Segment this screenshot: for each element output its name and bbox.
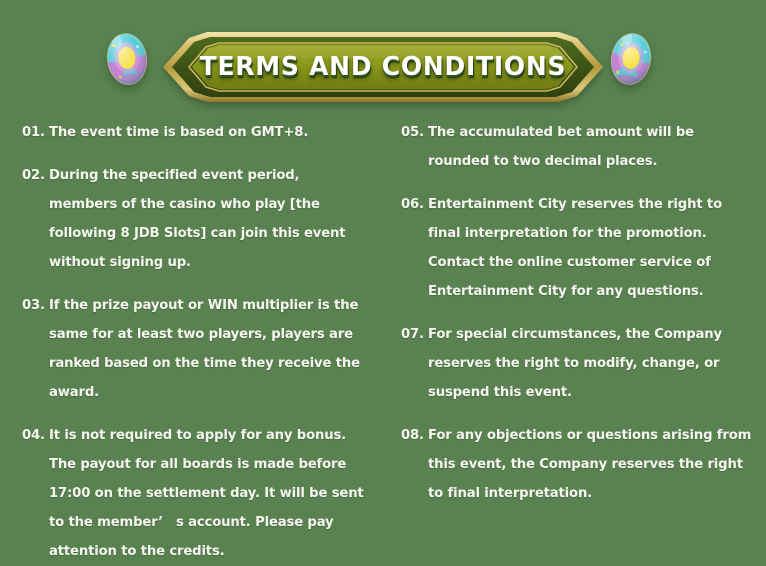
term-number: 04. [22,421,49,450]
term-number: 06. [401,190,428,219]
term-item: 01. The event time is based on GMT+8. [22,118,367,147]
term-text: The accumulated bet amount will be round… [428,118,756,176]
promo-terms-page: TERMS AND CONDITIONS [0,0,766,477]
term-number: 05. [401,118,428,147]
term-number: 08. [401,421,428,450]
term-item: 04. It is not required to apply for any … [22,421,367,566]
term-number: 01. [22,118,49,147]
term-text: For any objections or questions arising … [428,421,756,508]
term-item: 08. For any objections or questions aris… [401,421,756,508]
terms-and-conditions-body: 01. The event time is based on GMT+8. 02… [0,118,766,477]
term-item: 06. Entertainment City reserves the righ… [401,190,756,306]
terms-column-left: 01. The event time is based on GMT+8. 02… [0,118,383,477]
banner-plate-shape [163,28,603,106]
term-text: If the prize payout or WIN multiplier is… [49,291,367,407]
term-text: Entertainment City reserves the right to… [428,190,756,306]
terms-column-right: 05. The accumulated bet amount will be r… [383,118,766,477]
term-item: 02. During the specified event period, m… [22,161,367,277]
term-number: 07. [401,320,428,349]
term-number: 03. [22,291,49,320]
page-header: TERMS AND CONDITIONS [0,0,766,118]
term-item: 03. If the prize payout or WIN multiplie… [22,291,367,407]
term-text: During the specified event period, membe… [49,161,367,277]
term-number: 02. [22,161,49,190]
term-text: The event time is based on GMT+8. [49,118,367,147]
easter-egg-right-icon [608,24,654,86]
term-text: It is not required to apply for any bonu… [49,421,367,566]
term-item: 07. For special circumstances, the Compa… [401,320,756,407]
term-text: For special circumstances, the Company r… [428,320,756,407]
term-item: 05. The accumulated bet amount will be r… [401,118,756,176]
